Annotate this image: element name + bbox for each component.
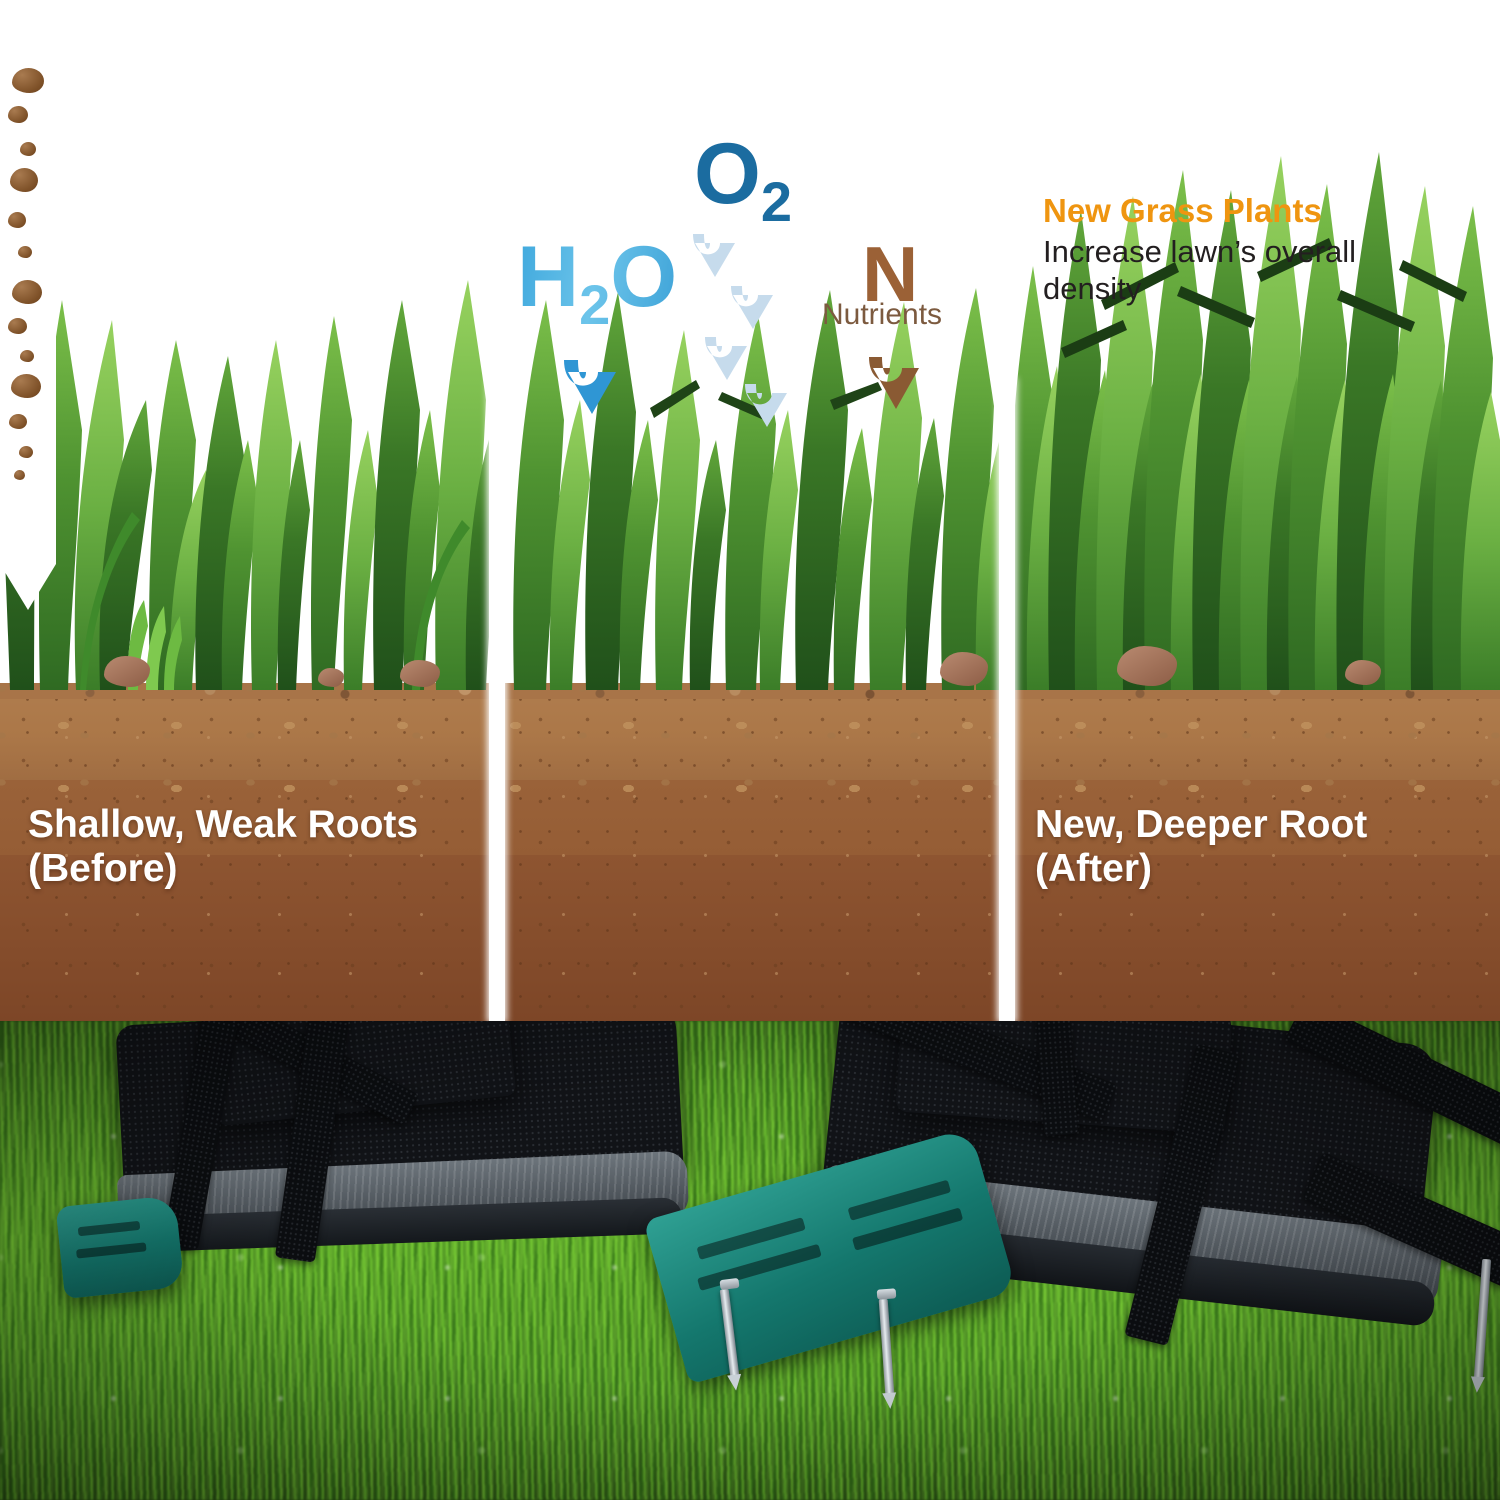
surface-rock [318,668,344,687]
soil-particle [11,374,41,398]
grass-right-svg [1005,0,1500,690]
soil-particle [8,212,26,228]
surface-rock [940,652,988,686]
nitrogen-arrow-icon [858,350,930,424]
soil-particle [20,142,36,156]
soil-pebble-texture [0,683,1500,793]
label-before-roots: Shallow, Weak Roots (Before) [28,803,418,892]
surface-rock [400,660,440,687]
soil-particle [12,280,42,304]
illustration-panel: H2O O2 N Nutrients New Grass Plants Incr… [0,0,1500,1021]
infographic-root: How Aerator Shoes Work [0,0,1500,1500]
surface-rock [1117,646,1177,686]
soil-particle [10,168,38,192]
soil-particle [12,68,44,93]
surface-rock [1345,660,1381,685]
grass-left-sparse [0,0,500,690]
oxygen-arrow-icon [736,378,796,440]
soil-particle [8,318,27,334]
photo-vignette [0,1021,1500,1500]
channel-separator-right [999,380,1015,1021]
label-new-grass-plants-heading: New Grass Plants [1043,192,1322,230]
water-arrow-icon [552,352,628,428]
label-h2o: H2O [517,234,677,333]
channel-separator-left [489,380,505,1021]
aerator-shoes-photo [0,1021,1500,1500]
soil-particle [19,446,33,458]
grass-right-dense [1005,0,1500,690]
grass-left-svg [0,0,500,690]
label-after-roots: New, Deeper Root (After) [1035,803,1367,892]
soil-particle [20,350,34,362]
soil-particle [18,246,32,258]
soil-particle [8,106,28,123]
label-new-grass-plants-body: Increase lawn’s overall density [1043,234,1383,307]
soil-particle [9,414,27,429]
label-nutrients-caption: Nutrients [822,298,942,332]
label-o2: O2 [694,131,792,230]
surface-rock [104,656,150,687]
soil-particle [14,470,25,480]
